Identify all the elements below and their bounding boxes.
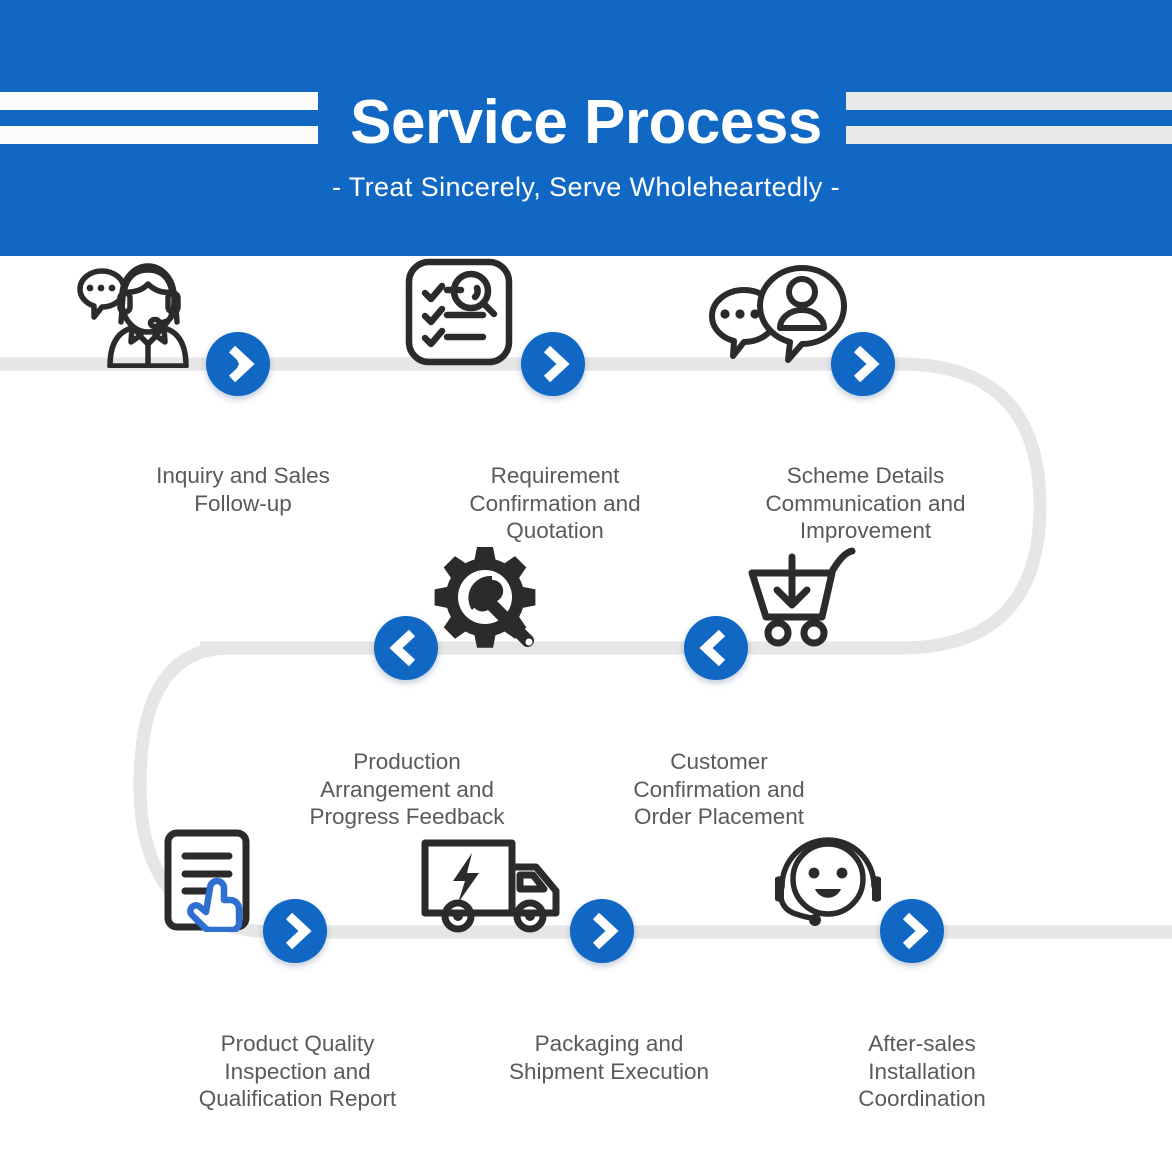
chevron-right-icon xyxy=(206,332,270,396)
step-1-label: Inquiry and Sales Follow-up xyxy=(102,462,384,517)
chevron-right-icon xyxy=(263,899,327,963)
step-3-label: Scheme Details Communication and Improve… xyxy=(723,462,1008,545)
connector-chevron-right-1[interactable] xyxy=(206,332,270,396)
shopping-cart-download-icon xyxy=(744,545,856,649)
checklist-search-icon xyxy=(405,258,513,366)
delivery-truck-icon xyxy=(420,835,568,933)
step-7-label: Packaging and Shipment Execution xyxy=(468,1030,750,1085)
service-process-infographic: Service Process - Treat Sincerely, Serve… xyxy=(0,0,1172,1174)
step-2-label: Requirement Confirmation and Quotation xyxy=(414,462,696,545)
connector-chevron-right-8[interactable] xyxy=(880,899,944,963)
chevron-right-icon xyxy=(831,332,895,396)
step-6-label: Product Quality Inspection and Qualifica… xyxy=(155,1030,440,1113)
connector-chevron-right-6[interactable] xyxy=(263,899,327,963)
chevron-left-icon xyxy=(684,616,748,680)
connector-chevron-right-7[interactable] xyxy=(570,899,634,963)
step-5-label: Production Arrangement and Progress Feed… xyxy=(266,748,548,831)
header-banner: Service Process - Treat Sincerely, Serve… xyxy=(0,0,1172,256)
step-4-label: Customer Confirmation and Order Placemen… xyxy=(578,748,860,831)
connector-chevron-right-3[interactable] xyxy=(831,332,895,396)
chevron-left-icon xyxy=(374,616,438,680)
chevron-right-icon xyxy=(521,332,585,396)
gear-wrench-icon xyxy=(430,545,540,649)
support-face-headset-icon xyxy=(765,832,891,932)
page-subtitle: - Treat Sincerely, Serve Wholeheartedly … xyxy=(0,168,1172,206)
step-8-label: After-sales Installation Coordination xyxy=(781,1030,1063,1113)
connector-chevron-right-2[interactable] xyxy=(521,332,585,396)
page-title: Service Process xyxy=(0,84,1172,162)
chevron-right-icon xyxy=(880,899,944,963)
document-click-icon xyxy=(163,828,271,932)
connector-chevron-left-4[interactable] xyxy=(684,616,748,680)
chevron-right-icon xyxy=(570,899,634,963)
chat-bubbles-person-icon xyxy=(700,258,850,366)
connector-chevron-left-5[interactable] xyxy=(374,616,438,680)
